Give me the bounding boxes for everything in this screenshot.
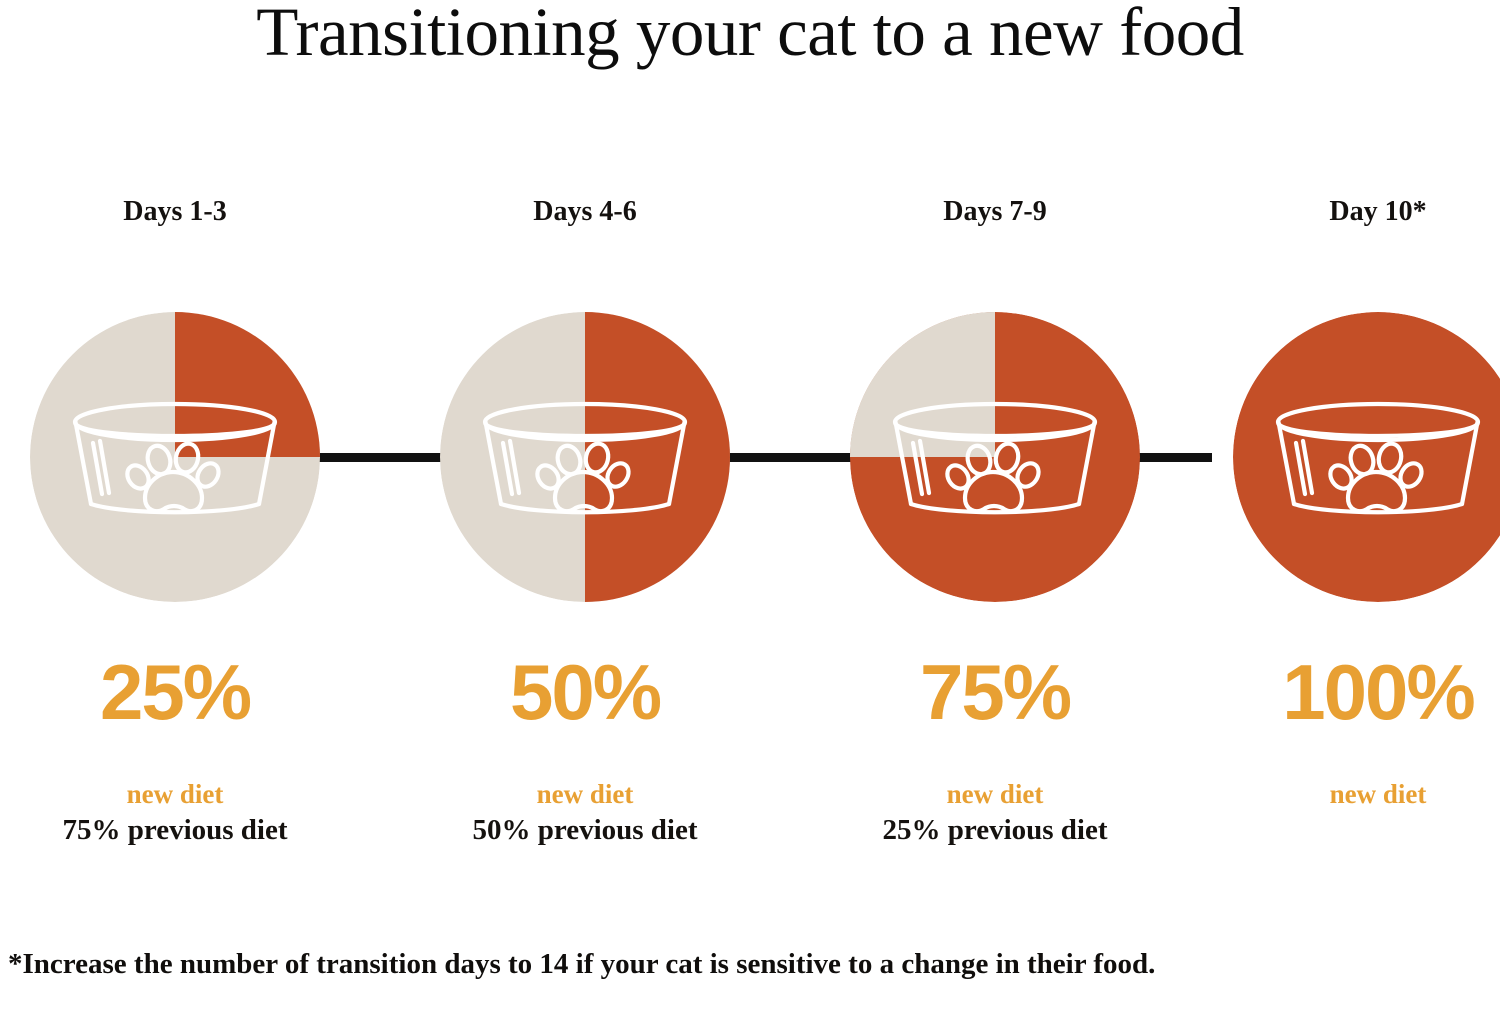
stage-day-label: Days 1-3 bbox=[5, 196, 345, 228]
stage-percent: 75% bbox=[825, 653, 1165, 731]
pie-chart bbox=[440, 312, 730, 602]
pie-slice-new-diet bbox=[585, 312, 730, 457]
stage-percent: 25% bbox=[5, 653, 345, 731]
stage-new-diet-label: new diet bbox=[5, 779, 345, 810]
stage-previous-diet-label: 75% previous diet bbox=[5, 814, 345, 847]
stage-new-diet-label: new diet bbox=[825, 779, 1165, 810]
footnote-text: *Increase the number of transition days … bbox=[8, 948, 1498, 981]
stage-pie-circle bbox=[30, 312, 320, 602]
stage-new-diet-label: new diet bbox=[1208, 779, 1500, 810]
stage-day-10: Day 10* bbox=[1208, 0, 1500, 1010]
stage-previous-diet-label: 25% previous diet bbox=[825, 814, 1165, 847]
stage-day-label: Days 4-6 bbox=[415, 196, 755, 228]
stage-previous-diet-label: 50% previous diet bbox=[415, 814, 755, 847]
pie-slice-new-diet bbox=[1233, 312, 1500, 602]
infographic-canvas: Transitioning your cat to a new food Day… bbox=[0, 0, 1500, 1010]
stage-day-label: Day 10* bbox=[1208, 196, 1500, 228]
stage-days-7-9: Days 7-9 bbox=[825, 0, 1165, 1010]
pie-chart bbox=[850, 312, 1140, 602]
stage-days-1-3: Days 1-3 bbox=[5, 0, 345, 1010]
stage-pie-circle bbox=[850, 312, 1140, 602]
stage-new-diet-label: new diet bbox=[415, 779, 755, 810]
pie-slice-previous-diet bbox=[850, 312, 995, 457]
stage-day-label: Days 7-9 bbox=[825, 196, 1165, 228]
pie-slice-new-diet bbox=[175, 312, 320, 457]
stage-days-4-6: Days 4-6 bbox=[415, 0, 755, 1010]
stage-pie-circle bbox=[440, 312, 730, 602]
pie-chart bbox=[30, 312, 320, 602]
pie-slice-new-diet bbox=[585, 457, 730, 602]
stage-percent: 50% bbox=[415, 653, 755, 731]
pie-chart bbox=[1233, 312, 1500, 602]
stage-pie-circle bbox=[1233, 312, 1500, 602]
stage-percent: 100% bbox=[1208, 653, 1500, 731]
